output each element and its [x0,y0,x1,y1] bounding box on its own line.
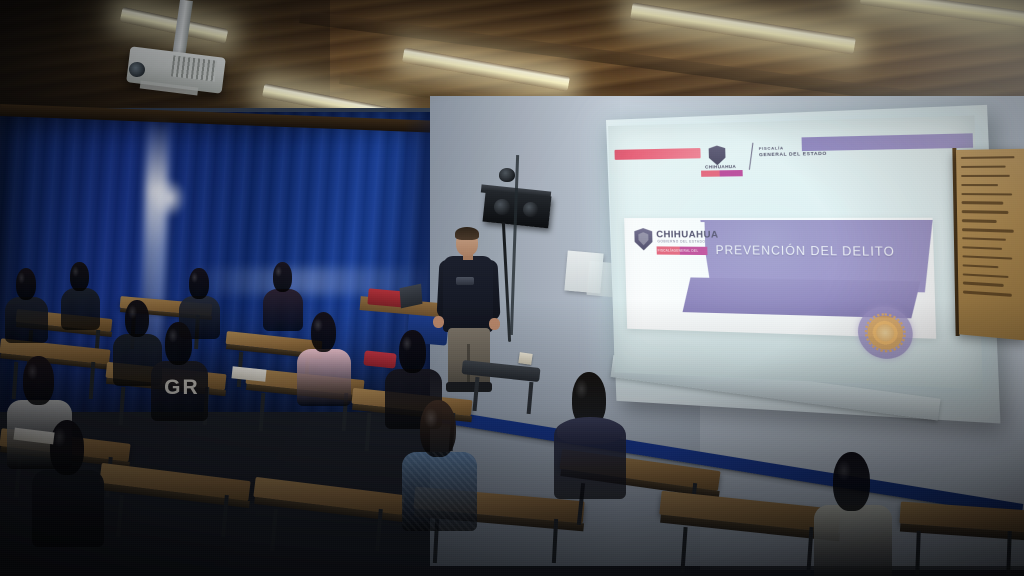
corkboard-text-line [963,282,1004,287]
student-head [23,356,54,405]
student-back-row-left [60,262,100,328]
corkboard-text-line [962,246,1002,250]
slide-header-pink-bar [614,148,700,160]
student-torso [297,349,351,406]
pencil-case [363,350,396,368]
hoodie-hood [557,417,624,444]
slide-header-department-line-1: FISCALÍA [759,146,784,151]
student-hair-highlight [313,318,323,333]
corkboard-text-line [963,291,1011,297]
projected-slide: CHIHUAHUA FISCALÍA GENERAL DEL ESTADO CH… [608,115,983,389]
desk-leg [270,509,278,551]
jacket-lettering: GR [164,376,200,400]
banner-left-text: FISCALÍA [658,247,674,259]
presenter-uniform-patch [456,277,474,285]
denim-jacket-texture [402,452,477,532]
desk-leg [365,413,372,451]
slide-title: PREVENCIÓN DEL DELITO [715,245,895,259]
corkboard-text-line [962,210,1009,213]
student-hair-highlight [424,408,437,429]
seal-core [876,324,895,342]
student-right-foreground [812,452,893,576]
student-left-edge-standing [4,268,49,342]
student-gr-jacket [150,322,209,419]
chihuahua-shield-icon [709,145,726,165]
slide-header-logo-banner [701,170,743,177]
student-hair-highlight [128,305,137,319]
window-light-hotspot [152,178,186,218]
ceiling-dome-fixture [499,168,515,182]
corkboard-text-line [962,228,1014,232]
corkboard-text-line [961,193,1012,196]
corkboard-text-line [961,165,1006,168]
slide-header-divider [749,143,754,170]
student-head [833,452,870,511]
student-head [420,400,456,457]
presenter-hand-right [489,318,500,330]
classroom-photo: CHIHUAHUA FISCALÍA GENERAL DEL ESTADO CH… [0,0,1024,576]
slide-logo-banner-text: FISCALÍA GENERAL DEL ESTADO [658,247,707,260]
slide-header-department-line-2: GENERAL DEL ESTADO [759,152,827,158]
slide-header-purple-bar [802,133,974,151]
presenter-shoes [446,382,492,392]
desk-leg [116,495,124,537]
student-hair-highlight [275,266,282,277]
corkboard-text-line [961,184,998,187]
student-torso [32,470,105,547]
student-torso [814,505,892,576]
corkboard-text-line [962,202,1004,205]
student-torso [5,297,48,343]
corkboard-text-line [963,264,999,268]
corkboard-text-line [961,156,1014,159]
banner-right-text: GENERAL DEL ESTADO [673,248,706,261]
presenter-hand-left [433,316,444,328]
corkboard-text-line [962,255,1012,260]
corkboard-text-line [963,273,1009,278]
student-pink-sweater [296,312,352,404]
student-torso [61,288,100,329]
corkboard-text-line [962,219,997,222]
slide-logo-subtitle: GOBIERNO DEL ESTADO [657,240,705,244]
corkboard-handwriting [961,156,1024,297]
corkboard-text-line [961,175,1009,178]
presenter-hair [455,227,479,240]
presenter-torso [443,256,493,332]
wall-outlet [518,352,532,365]
corkboard-text-line [962,237,1005,241]
corkboard [956,149,1024,341]
